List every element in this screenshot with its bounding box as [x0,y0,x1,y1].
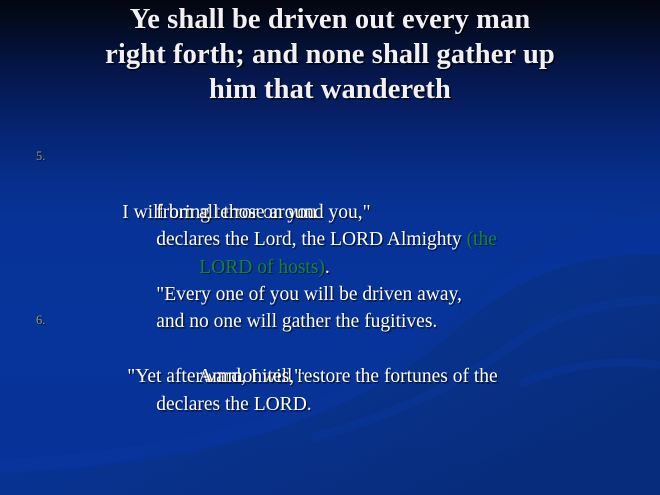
presentation-slide: Ye shall be driven out every man right f… [0,0,660,495]
body-line: and no one will gather the fugitives. [0,281,660,308]
body-line: from all those around you," [0,171,660,198]
body-line: LORD of hosts). [0,226,660,253]
body-line: Ammonites," [0,336,660,363]
list-marker-5: 5. [36,150,45,163]
slide-body: 5. I will bring terror on you from all t… [0,144,660,391]
slide-title: Ye shall be driven out every man right f… [14,2,646,107]
body-line: declares the Lord, the LORD Almighty (th… [0,199,660,226]
list-marker-6: 6. [36,314,45,327]
body-line-text: declares the LORD. [156,394,311,415]
list-item: 6. "Yet afterward, I will restore the fo… [0,308,660,335]
body-line: "Every one of you will be driven away, [0,254,660,281]
body-line: declares the LORD. [0,363,660,390]
list-item: 5. I will bring terror on you [0,144,660,171]
